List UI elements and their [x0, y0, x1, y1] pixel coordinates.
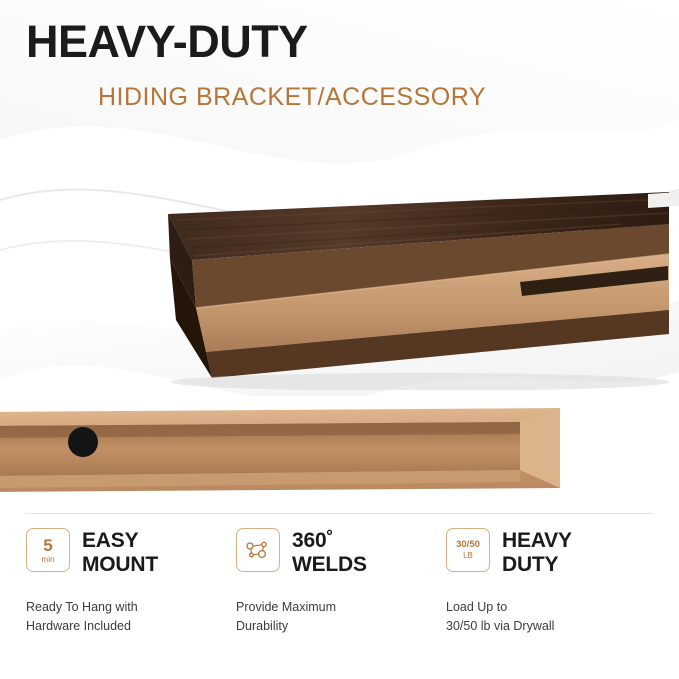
- badge-unit: min: [42, 556, 55, 564]
- feature-desc-line1: Provide Maximum: [236, 598, 446, 617]
- feature-list: 5 min EASY MOUNT Ready To Hang with Hard…: [26, 528, 656, 658]
- feature-easy-mount: 5 min EASY MOUNT Ready To Hang with Hard…: [26, 528, 236, 658]
- feature-desc-line2: Durability: [236, 617, 446, 636]
- product-label: [648, 192, 679, 208]
- badge-value: 5: [43, 537, 52, 554]
- feature-title-line1: EASY: [82, 529, 158, 553]
- cutaway-fade: [560, 408, 679, 488]
- section-divider: [26, 513, 653, 514]
- hero-product-image: [0, 120, 679, 390]
- badge-load-capacity: 30/50 LB: [446, 528, 490, 572]
- feature-desc-line1: Ready To Hang with: [26, 598, 236, 617]
- feature-title-line2: MOUNT: [82, 553, 158, 577]
- shelf-illustration: [0, 120, 679, 390]
- feature-header: 5 min EASY MOUNT: [26, 528, 236, 576]
- feature-title: 360˚ WELDS: [292, 528, 367, 576]
- feature-desc-line2: 30/50 lb via Drywall: [446, 617, 656, 636]
- page-subtitle: HIDING BRACKET/ACCESSORY: [98, 84, 486, 112]
- feature-description: Load Up to 30/50 lb via Drywall: [446, 598, 656, 637]
- badge-5-min: 5 min: [26, 528, 70, 572]
- feature-desc-line2: Hardware Included: [26, 617, 236, 636]
- feature-title-line1: HEAVY: [502, 529, 572, 553]
- feature-heavy-duty: 30/50 LB HEAVY DUTY Load Up to 30/50 lb …: [446, 528, 656, 658]
- badge-value: 30/50: [456, 540, 480, 550]
- page-title: HEAVY-DUTY: [26, 18, 308, 65]
- badge-weld-nodes: [236, 528, 280, 572]
- feature-desc-line1: Load Up to: [446, 598, 656, 617]
- feature-title-line2: WELDS: [292, 553, 367, 577]
- feature-description: Provide Maximum Durability: [236, 598, 446, 637]
- feature-title-line2: DUTY: [502, 553, 572, 577]
- shelf-cutaway-illustration: [0, 396, 679, 496]
- shelf-shadow: [170, 373, 670, 390]
- mounting-hole: [68, 427, 98, 457]
- feature-header: 30/50 LB HEAVY DUTY: [446, 528, 656, 576]
- feature-360-welds: 360˚ WELDS Provide Maximum Durability: [236, 528, 446, 658]
- feature-title-line1: 360˚: [292, 529, 367, 553]
- weld-nodes-icon: [245, 540, 271, 560]
- feature-header: 360˚ WELDS: [236, 528, 446, 576]
- feature-title: EASY MOUNT: [82, 528, 158, 576]
- feature-description: Ready To Hang with Hardware Included: [26, 598, 236, 637]
- badge-unit: LB: [463, 552, 473, 560]
- product-infographic: HEAVY-DUTY HIDING BRACKET/ACCESSORY: [0, 0, 679, 679]
- cutaway-product-image: [0, 396, 679, 496]
- feature-title: HEAVY DUTY: [502, 528, 572, 576]
